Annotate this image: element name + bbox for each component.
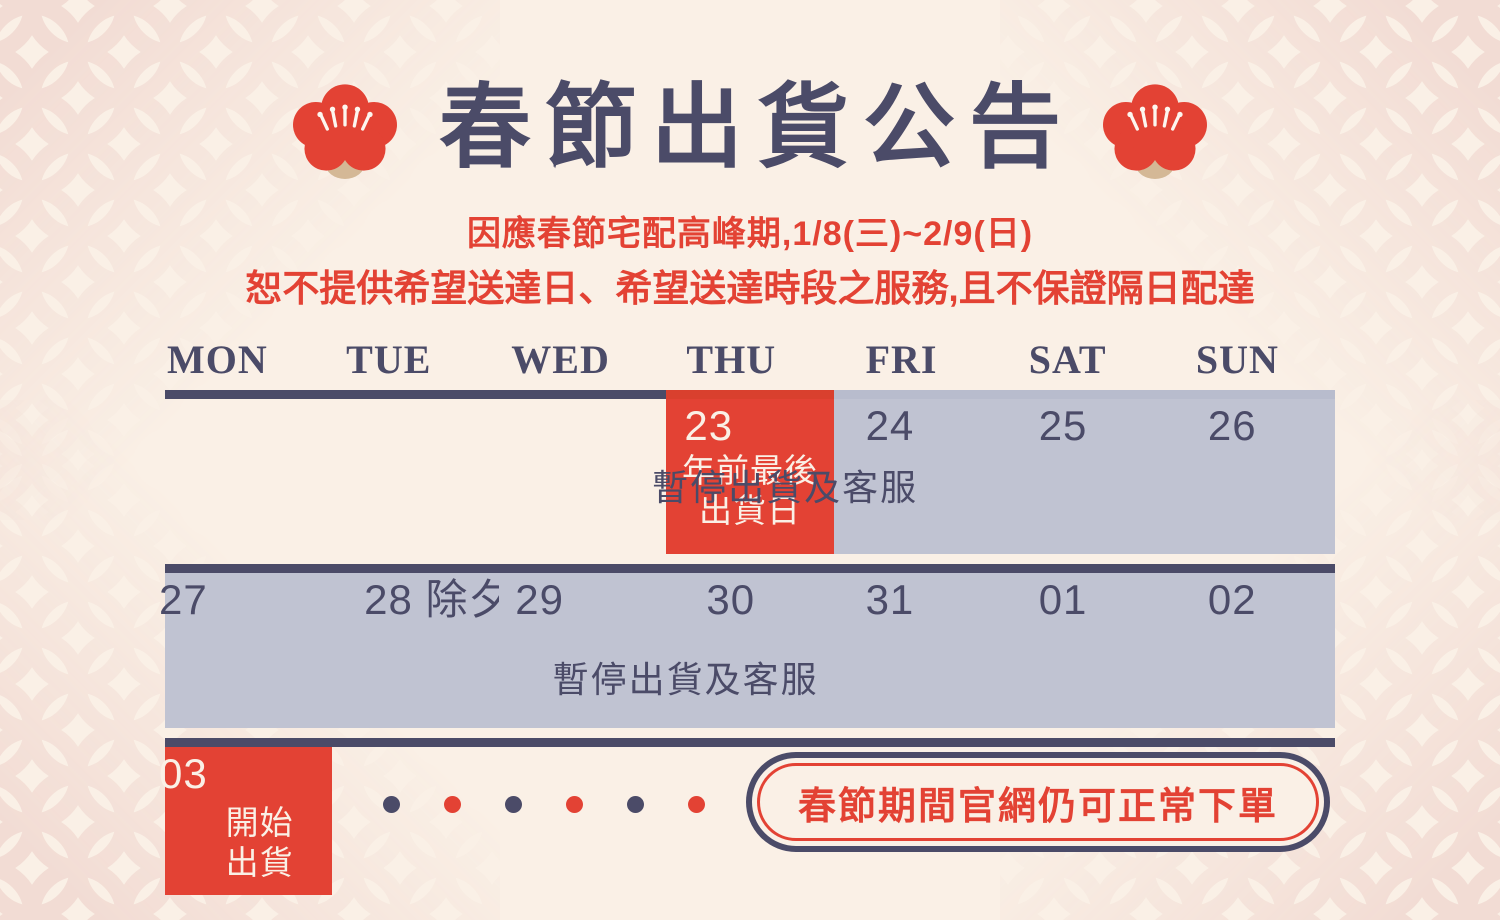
- dot-5-navy: [627, 796, 644, 813]
- rule-segment-thu: [666, 390, 833, 399]
- day-number-01: 01: [1039, 579, 1088, 621]
- subtitle-block: 因應春節宅配高峰期,1/8(三)~2/9(日) 恕不提供希望送達日、希望送達時段…: [0, 212, 1500, 314]
- rule2-segment-tue: [332, 564, 499, 573]
- calendar-cell-r1-mon[interactable]: [165, 399, 332, 554]
- plum-blossom-icon-left: [293, 76, 397, 180]
- rule-segment-wed: [499, 390, 666, 399]
- page-title: 春節出貨公告: [425, 82, 1075, 174]
- rule2-segment-fri: [834, 564, 1001, 573]
- dot-6-red: [688, 796, 705, 813]
- calendar-rule-after-row-1: [165, 564, 1335, 573]
- rule3-segment-mon: [165, 738, 332, 747]
- dot-2-red: [444, 796, 461, 813]
- rule3-segment-sat: [1001, 738, 1168, 747]
- day-number-28-new-years-eve: 28 除夕: [364, 579, 511, 621]
- rule-segment-tue: [332, 390, 499, 399]
- row-2-suspension-note: 暫停出貨及客服: [553, 651, 819, 703]
- calendar-rule-after-row-2: [165, 738, 1335, 747]
- subtitle-line-2: 恕不提供希望送達日、希望送達時段之服務,且不保證隔日配達: [0, 264, 1500, 314]
- weekday-thu: THU: [666, 340, 833, 380]
- calendar-row-2: 27 28 除夕 29 30 31 01 02 暫停出貨及客服: [165, 573, 1335, 728]
- day-number-30: 30: [706, 579, 755, 621]
- calendar-cell-r2-mon[interactable]: 27: [165, 573, 332, 728]
- day-number-26: 26: [1208, 405, 1257, 447]
- rule3-segment-wed: [499, 738, 666, 747]
- weekday-wed: WED: [499, 340, 666, 380]
- calendar-cell-r2-sat[interactable]: 01: [1001, 573, 1168, 728]
- weekday-fri: FRI: [834, 340, 1001, 380]
- day-number-23: 23: [684, 405, 733, 447]
- cta-badge-label: 春節期間官網仍可正常下單: [798, 775, 1278, 830]
- calendar-cell-r1-sun[interactable]: 26: [1168, 399, 1335, 554]
- rule2-segment-sat: [1001, 564, 1168, 573]
- calendar-cell-r2-tue[interactable]: 28 除夕: [332, 573, 499, 728]
- rule3-segment-tue: [332, 738, 499, 747]
- calendar-cell-r2-sun[interactable]: 02: [1168, 573, 1335, 728]
- weekday-sat: SAT: [1001, 340, 1168, 380]
- subtitle-line-1: 因應春節宅配高峰期,1/8(三)~2/9(日): [0, 212, 1500, 258]
- calendar-cell-r1-tue[interactable]: [332, 399, 499, 554]
- dot-3-navy: [505, 796, 522, 813]
- rule2-segment-wed: [499, 564, 666, 573]
- page-title-text: 春節出貨公告: [439, 77, 1075, 179]
- rule-segment-sat: [1001, 390, 1168, 399]
- day-number-25: 25: [1039, 405, 1088, 447]
- cta-badge-inner-border: 春節期間官網仍可正常下單: [757, 763, 1319, 841]
- rule3-segment-sun: [1168, 738, 1335, 747]
- rule-segment-mon: [165, 390, 332, 399]
- cta-badge[interactable]: 春節期間官網仍可正常下單: [746, 752, 1330, 852]
- calendar-header-rule: [165, 390, 1335, 399]
- rule3-segment-fri: [834, 738, 1001, 747]
- rule2-segment-thu: [666, 564, 833, 573]
- weekday-mon: MON: [165, 340, 332, 380]
- day-number-24: 24: [866, 405, 915, 447]
- title-row: 春節出貨公告: [0, 68, 1500, 188]
- weekday-tue: TUE: [332, 340, 499, 380]
- plum-blossom-icon-right: [1103, 76, 1207, 180]
- dot-4-red: [566, 796, 583, 813]
- day-number-29: 29: [515, 579, 564, 621]
- footer: 春節期間官網仍可正常下單: [165, 760, 1335, 870]
- rule2-segment-sun: [1168, 564, 1335, 573]
- calendar-cell-r2-fri[interactable]: 31: [834, 573, 1001, 728]
- rule-segment-fri: [834, 390, 1001, 399]
- weekday-sun: SUN: [1168, 340, 1335, 380]
- row-1-suspension-note: 暫停出貨及客服: [652, 459, 918, 511]
- calendar-cell-r1-wed[interactable]: [499, 399, 666, 554]
- day-number-31: 31: [866, 579, 915, 621]
- day-number-02: 02: [1208, 579, 1257, 621]
- dot-1-navy: [383, 796, 400, 813]
- calendar-row-1: 23 年前最後 出貨日 24 25 26 暫停出貨及客服: [165, 399, 1335, 554]
- poster-canvas: 春節出貨公告: [0, 0, 1500, 920]
- rule3-segment-thu: [666, 738, 833, 747]
- calendar-cell-r1-sat[interactable]: 25: [1001, 399, 1168, 554]
- calendar-weekday-header: MON TUE WED THU FRI SAT SUN: [165, 332, 1335, 380]
- rule-segment-sun: [1168, 390, 1335, 399]
- decorative-dots: [383, 796, 705, 813]
- rule2-segment-mon: [165, 564, 332, 573]
- day-number-27: 27: [159, 579, 208, 621]
